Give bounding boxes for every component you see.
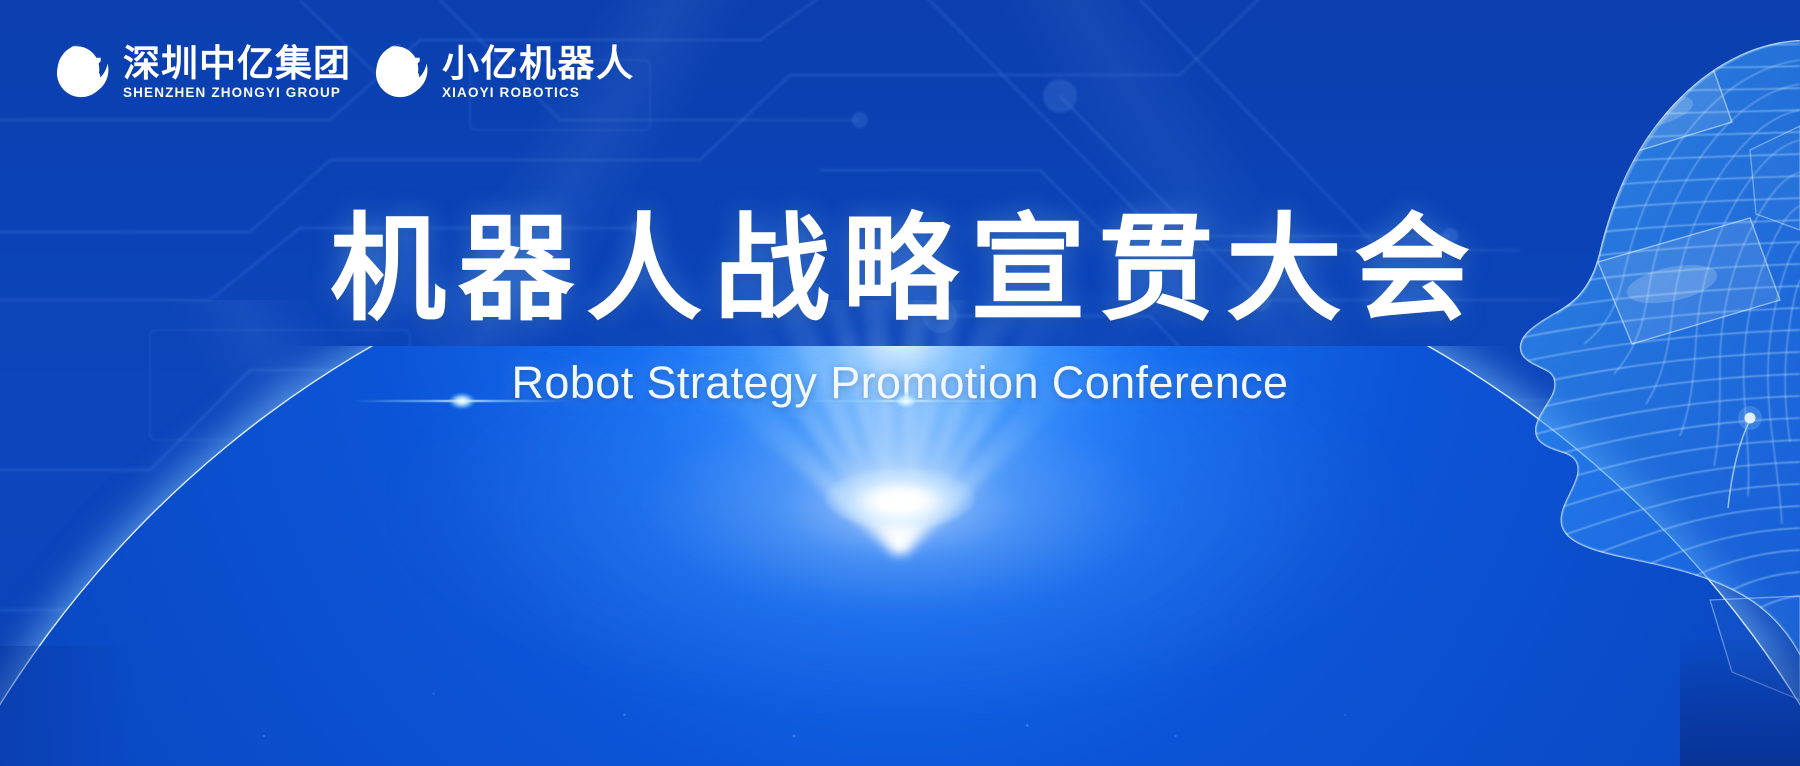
- logo-cn-name: 深圳中亿集团: [123, 45, 351, 83]
- earth-horizon-graphic: [0, 346, 1800, 766]
- earth-sphere: [0, 346, 1800, 766]
- xiaoyi-circle-logo-icon: [371, 42, 433, 104]
- zhongyi-circle-logo-icon: [52, 42, 114, 104]
- logo-en-name: SHENZHEN ZHONGYI GROUP: [123, 86, 351, 101]
- logo-zhongyi-group[interactable]: 深圳中亿集团 SHENZHEN ZHONGYI GROUP: [52, 42, 351, 104]
- page-subtitle: Robot Strategy Promotion Conference: [0, 357, 1800, 409]
- logo-en-name: XIAOYI ROBOTICS: [442, 86, 635, 101]
- earth-city-lights: [0, 346, 1800, 766]
- conference-banner: 深圳中亿集团 SHENZHEN ZHONGYI GROUP 小亿机器人: [0, 0, 1800, 766]
- title-block: 机器人战略宣贯大会 Robot Strategy Promotion Confe…: [0, 205, 1800, 409]
- logo-xiaoyi-robotics[interactable]: 小亿机器人 XIAOYI ROBOTICS: [371, 42, 635, 104]
- logo-cn-name: 小亿机器人: [442, 45, 635, 83]
- logo-group: 深圳中亿集团 SHENZHEN ZHONGYI GROUP 小亿机器人: [52, 42, 635, 104]
- image-seam-right: [1680, 636, 1800, 766]
- image-seam-left: [0, 646, 132, 766]
- sunrise-core: [825, 468, 975, 528]
- page-title: 机器人战略宣贯大会: [318, 205, 1482, 335]
